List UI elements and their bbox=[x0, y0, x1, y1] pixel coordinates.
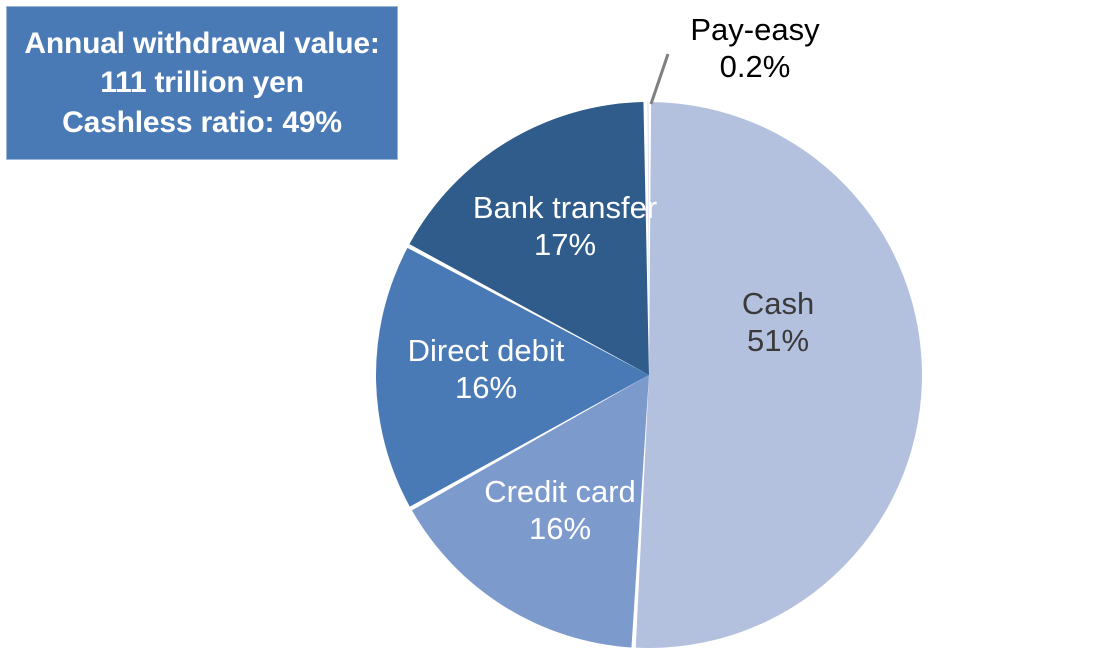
pie-slices-group bbox=[376, 102, 922, 648]
pay-easy-leader-line bbox=[651, 54, 668, 104]
pie-chart-figure: Annual withdrawal value: 111 trillion ye… bbox=[0, 0, 1120, 668]
pie-svg bbox=[0, 0, 1120, 668]
pie-slice-cash bbox=[636, 102, 922, 648]
